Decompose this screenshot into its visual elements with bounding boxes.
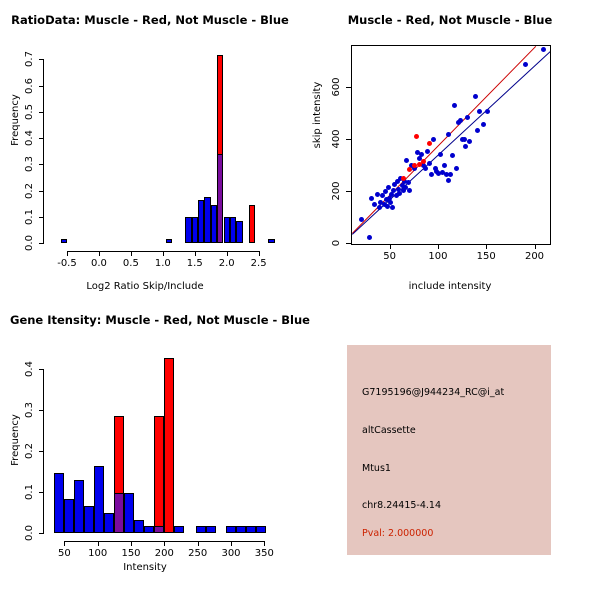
- scatter-point-not-muscle: [473, 94, 478, 99]
- ratio-histogram-y-tick-label: 0.2: [24, 183, 35, 199]
- gene-histogram-title: Gene Itensity: Muscle - Red, Not Muscle …: [0, 313, 320, 327]
- scatter-point-not-muscle: [375, 192, 380, 197]
- panel-ratio-histogram: RatioData: Muscle - Red, Not Muscle - Bl…: [0, 0, 300, 300]
- histogram-bar-blue: [174, 526, 184, 533]
- scatter-x-tick-label: 150: [477, 251, 496, 262]
- ratio-histogram-y-tick-label: 0.6: [24, 78, 35, 94]
- scatter-y-tick-label: 400: [331, 129, 342, 148]
- ratio-histogram-x-tick-label: 0.5: [123, 258, 139, 269]
- scatter-point-not-muscle: [377, 205, 382, 210]
- gene-histogram-plot-area: [51, 353, 281, 533]
- gene-histogram-x-tick: [198, 541, 199, 546]
- histogram-bar-blue: [94, 466, 104, 533]
- gene-histogram-y-tick: [39, 410, 44, 411]
- scatter-x-tick-label: 50: [383, 251, 396, 262]
- scatter-point-not-muscle: [359, 217, 364, 222]
- gene-histogram-x-tick: [164, 541, 165, 546]
- scatter-point-not-muscle: [523, 62, 528, 67]
- ratio-histogram-x-tick-label: -0.5: [57, 258, 77, 269]
- scatter-point-not-muscle: [369, 196, 374, 201]
- scatter-x-tick: [438, 244, 439, 249]
- gene-histogram-x-tick-label: 250: [188, 548, 207, 559]
- gene-histogram-bars: [51, 353, 281, 533]
- scatter-point-not-muscle: [462, 137, 467, 142]
- histogram-bar-blue: [206, 526, 216, 533]
- scatter-y-tick-label: 600: [331, 77, 342, 96]
- ratio-histogram-x-tick-label: 1.0: [155, 258, 171, 269]
- scatter-point-not-muscle: [475, 128, 480, 133]
- histogram-bar-blue: [134, 520, 144, 534]
- scatter-point-not-muscle: [406, 180, 411, 185]
- scatter-point-not-muscle: [419, 152, 424, 157]
- histogram-bar-blue: [246, 526, 256, 533]
- ratio-histogram-bars: [51, 54, 281, 243]
- info-pval: Pval: 2.000000: [362, 528, 433, 539]
- ratio-histogram-x-tick: [131, 251, 132, 256]
- histogram-bar-blue: [144, 526, 154, 533]
- gene-histogram-y-tick: [39, 533, 44, 534]
- gene-histogram-x-tick: [64, 541, 65, 546]
- gene-histogram-y-tick: [39, 451, 44, 452]
- histogram-bar-blue: [236, 526, 246, 533]
- gene-histogram-xlabel: Intensity: [30, 562, 260, 573]
- gene-histogram-x-tick-label: 100: [88, 548, 107, 559]
- gene-histogram-y-tick-label: 0.2: [24, 443, 35, 459]
- gene-histogram-x-tick-label: 200: [155, 548, 174, 559]
- scatter-point-not-muscle: [446, 132, 451, 137]
- gene-histogram-x-tick-label: 350: [255, 548, 274, 559]
- info-locus: chr8.24415-4.14: [362, 500, 441, 511]
- scatter-xlabel: include intensity: [330, 281, 570, 292]
- ratio-histogram-y-tick: [39, 59, 44, 60]
- scatter-point-not-muscle: [423, 166, 428, 171]
- scatter-x-tick: [390, 244, 391, 249]
- scatter-x-tick-label: 100: [428, 251, 447, 262]
- histogram-bar-blue: [166, 239, 172, 243]
- gene-histogram-y-tick-label: 0.4: [24, 361, 35, 377]
- panel-gene-intensity-histogram: Gene Itensity: Muscle - Red, Not Muscle …: [0, 300, 320, 600]
- ratio-histogram-xlabel: Log2 Ratio Skip/Include: [30, 281, 260, 292]
- ratio-histogram-y-tick: [39, 86, 44, 87]
- scatter-point-not-muscle: [448, 172, 453, 177]
- scatter-point-not-muscle: [458, 118, 463, 123]
- info-event-type: altCassette: [362, 425, 416, 436]
- scatter-y-tick: [346, 139, 351, 140]
- ratio-histogram-x-tick-label: 0.0: [91, 258, 107, 269]
- scatter-ylabel: skip intensity: [312, 55, 323, 175]
- ratio-histogram-x-tick: [227, 251, 228, 256]
- histogram-bar-blue: [54, 473, 64, 533]
- scatter-point-not-muscle: [427, 161, 432, 166]
- ratio-histogram-y-tick-label: 0.1: [24, 209, 35, 225]
- scatter-point-not-muscle: [477, 109, 482, 114]
- info-gene-symbol: Mtus1: [362, 463, 391, 474]
- ratio-histogram-y-tick: [39, 164, 44, 165]
- histogram-bar-blue: [104, 513, 114, 533]
- ratio-histogram-x-tick-label: 2.5: [251, 258, 267, 269]
- histogram-bar-blue: [236, 221, 242, 243]
- ratio-histogram-title: RatioData: Muscle - Red, Not Muscle - Bl…: [0, 13, 300, 27]
- gene-histogram-y-tick: [39, 369, 44, 370]
- scatter-y-tick-label: 200: [331, 181, 342, 200]
- histogram-bar-red: [164, 358, 174, 533]
- scatter-y-tick: [346, 243, 351, 244]
- histogram-bar-overlap: [154, 526, 164, 533]
- figure-canvas: RatioData: Muscle - Red, Not Muscle - Bl…: [0, 0, 600, 600]
- ratio-histogram-y-tick: [39, 217, 44, 218]
- ratio-histogram-x-tick: [259, 251, 260, 256]
- ratio-histogram-y-tick-label: 0.0: [24, 235, 35, 251]
- scatter-x-tick: [486, 244, 487, 249]
- ratio-histogram-x-tick: [67, 251, 68, 256]
- gene-histogram-y-tick: [39, 492, 44, 493]
- scatter-point-muscle: [414, 134, 419, 139]
- histogram-bar-red: [249, 205, 255, 243]
- scatter-title: Muscle - Red, Not Muscle - Blue: [300, 13, 600, 27]
- ratio-histogram-y-tick: [39, 191, 44, 192]
- scatter-point-not-muscle: [446, 178, 451, 183]
- gene-histogram-x-tick: [264, 541, 265, 546]
- scatter-point-not-muscle: [467, 139, 472, 144]
- gene-info-panel: G7195196@J944234_RC@i_at altCassette Mtu…: [347, 345, 551, 555]
- scatter-point-not-muscle: [404, 158, 409, 163]
- info-probe-id: G7195196@J944234_RC@i_at: [362, 387, 504, 398]
- ratio-histogram-y-tick-label: 0.3: [24, 156, 35, 172]
- gene-histogram-x-tick: [231, 541, 232, 546]
- scatter-y-tick: [346, 191, 351, 192]
- scatter-point-not-muscle: [425, 149, 430, 154]
- gene-histogram-x-tick-label: 50: [58, 548, 71, 559]
- scatter-point-not-muscle: [390, 205, 395, 210]
- scatter-point-not-muscle: [367, 235, 372, 240]
- ratio-histogram-x-tick: [195, 251, 196, 256]
- histogram-bar-blue: [256, 526, 266, 533]
- histogram-bar-blue: [268, 239, 274, 243]
- gene-histogram-x-tick: [131, 541, 132, 546]
- histogram-bar-blue: [196, 526, 206, 533]
- ratio-histogram-y-tick: [39, 112, 44, 113]
- scatter-point-not-muscle: [465, 115, 470, 120]
- ratio-histogram-y-tick-label: 0.4: [24, 130, 35, 146]
- panel-intensity-scatter: Muscle - Red, Not Muscle - Blue skip int…: [300, 0, 600, 300]
- histogram-bar-red: [154, 416, 164, 533]
- ratio-histogram-y-axis-line: [43, 59, 44, 243]
- scatter-point-not-muscle: [454, 166, 459, 171]
- gene-histogram-y-tick-label: 0.3: [24, 402, 35, 418]
- ratio-histogram-x-tick: [99, 251, 100, 256]
- histogram-bar-blue: [226, 526, 236, 533]
- ratio-histogram-x-tick: [163, 251, 164, 256]
- ratio-histogram-y-tick: [39, 138, 44, 139]
- scatter-y-tick-label: 0: [331, 240, 342, 246]
- scatter-point-not-muscle: [383, 189, 388, 194]
- histogram-bar-blue: [74, 480, 84, 533]
- scatter-x-tick: [535, 244, 536, 249]
- ratio-histogram-y-tick-label: 0.7: [24, 51, 35, 67]
- scatter-point-not-muscle: [541, 47, 546, 52]
- gene-histogram-x-tick-label: 150: [121, 548, 140, 559]
- scatter-point-not-muscle: [429, 172, 434, 177]
- histogram-bar-blue: [84, 506, 94, 533]
- histogram-bar-overlap: [114, 493, 124, 533]
- scatter-plot-area: [352, 46, 550, 244]
- ratio-histogram-y-tick: [39, 243, 44, 244]
- regression-line-not-muscle: [352, 51, 550, 235]
- scatter-point-not-muscle: [481, 122, 486, 127]
- scatter-point-not-muscle: [438, 152, 443, 157]
- gene-histogram-ylabel: Frequency: [10, 385, 21, 495]
- histogram-bar-blue: [64, 499, 74, 533]
- scatter-point-not-muscle: [463, 144, 468, 149]
- histogram-bar-blue: [124, 493, 134, 533]
- histogram-bar-blue: [61, 239, 67, 243]
- ratio-histogram-ylabel: Frequency: [10, 65, 21, 175]
- scatter-point-not-muscle: [450, 153, 455, 158]
- gene-histogram-y-tick-label: 0.0: [24, 525, 35, 541]
- scatter-point-muscle: [427, 141, 432, 146]
- ratio-histogram-y-tick-label: 0.5: [24, 104, 35, 120]
- ratio-histogram-x-tick-label: 2.0: [219, 258, 235, 269]
- scatter-x-tick-label: 200: [525, 251, 544, 262]
- gene-histogram-x-tick: [98, 541, 99, 546]
- scatter-point-not-muscle: [407, 188, 412, 193]
- scatter-y-tick: [346, 87, 351, 88]
- ratio-histogram-plot-area: [51, 54, 281, 243]
- scatter-point-not-muscle: [485, 109, 490, 114]
- scatter-point-not-muscle: [452, 103, 457, 108]
- scatter-point-not-muscle: [442, 163, 447, 168]
- gene-histogram-x-tick-label: 300: [221, 548, 240, 559]
- gene-histogram-y-tick-label: 0.1: [24, 484, 35, 500]
- ratio-histogram-x-tick-label: 1.5: [187, 258, 203, 269]
